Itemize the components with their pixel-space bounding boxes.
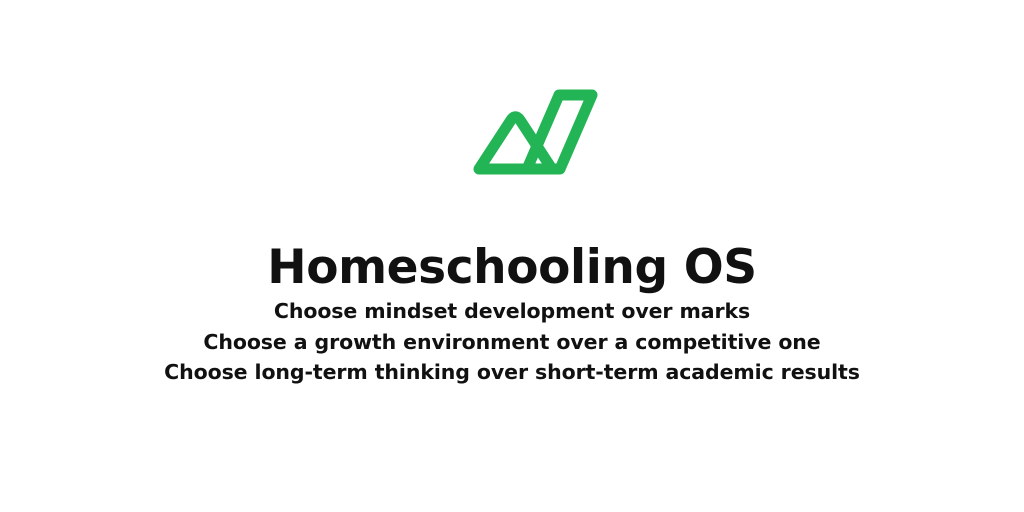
brand-logo xyxy=(466,82,606,182)
tagline-line-3: Choose long-term thinking over short-ter… xyxy=(164,357,860,388)
tagline-list: Choose mindset development over marks Ch… xyxy=(0,296,1024,388)
slide-canvas: Homeschooling OS Choose mindset developm… xyxy=(0,0,1024,512)
tagline-line-2: Choose a growth environment over a compe… xyxy=(203,327,820,358)
tagline-line-1: Choose mindset development over marks xyxy=(274,296,750,327)
crossing-chevron-logo-icon xyxy=(466,82,606,182)
page-title: Homeschooling OS xyxy=(0,243,1024,292)
